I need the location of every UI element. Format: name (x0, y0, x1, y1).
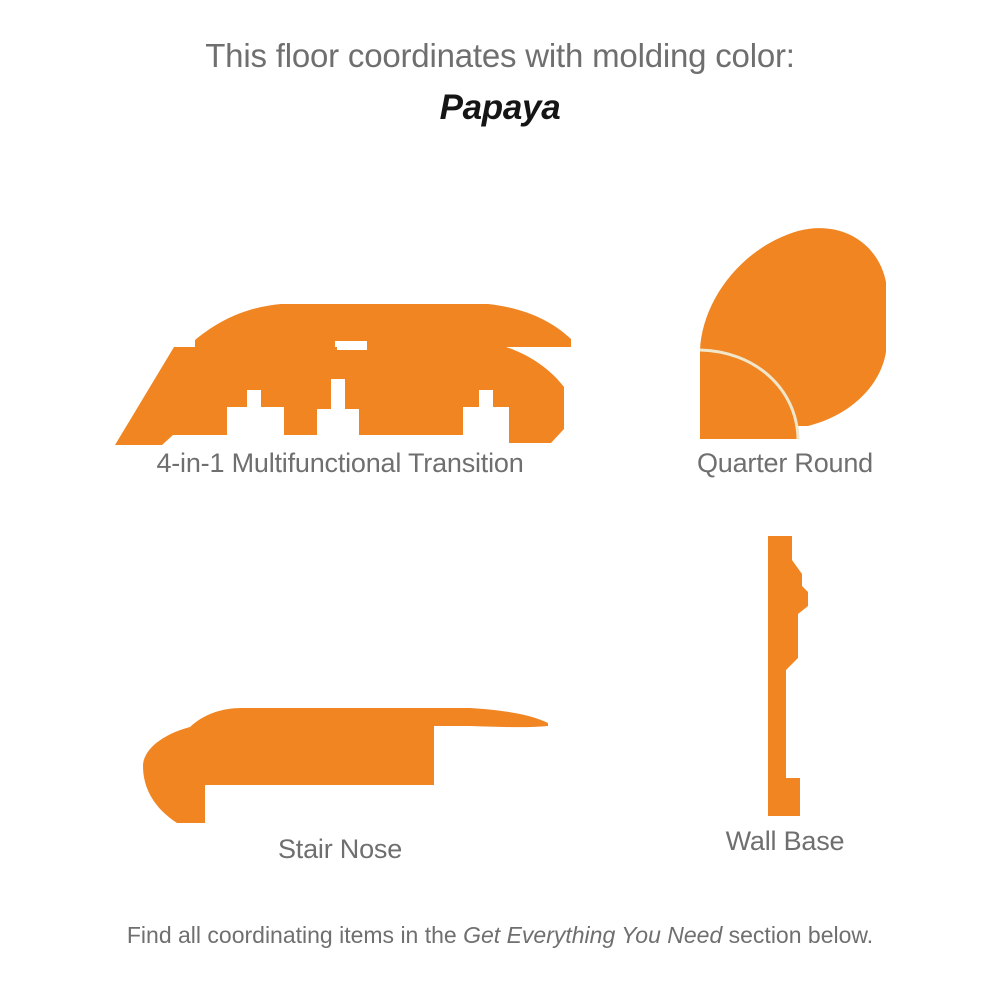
wall-base-art (640, 480, 930, 820)
transition-profile-icon (105, 295, 575, 450)
stair-nose-profile-icon (130, 690, 550, 830)
product-grid: 4-in-1 Multifunctional Transition Quarte… (0, 170, 1000, 870)
molding-color-name: Papaya (0, 84, 1000, 132)
transition-art (90, 190, 590, 450)
footer-suffix: section below. (722, 922, 873, 948)
footer-prefix: Find all coordinating items in the (127, 922, 463, 948)
transition-label: 4-in-1 Multifunctional Transition (90, 448, 590, 479)
stair-nose-label: Stair Nose (90, 834, 590, 865)
wall-base-label: Wall Base (640, 826, 930, 857)
quarter-round-art (640, 170, 930, 450)
product-quarter-round[interactable]: Quarter Round (640, 170, 930, 479)
page-title: This floor coordinates with molding colo… (0, 34, 1000, 78)
stair-nose-art (90, 540, 590, 830)
footer-emphasis: Get Everything You Need (463, 922, 722, 948)
product-transition[interactable]: 4-in-1 Multifunctional Transition (90, 190, 590, 479)
product-stair-nose[interactable]: Stair Nose (90, 540, 590, 865)
quarter-round-label: Quarter Round (640, 448, 930, 479)
molding-coordination-card: This floor coordinates with molding colo… (0, 0, 1000, 1000)
quarter-round-profile-icon (680, 220, 890, 450)
product-wall-base[interactable]: Wall Base (640, 480, 930, 857)
header: This floor coordinates with molding colo… (0, 34, 1000, 132)
wall-base-profile-icon (752, 530, 818, 820)
footer-note: Find all coordinating items in the Get E… (0, 920, 1000, 950)
